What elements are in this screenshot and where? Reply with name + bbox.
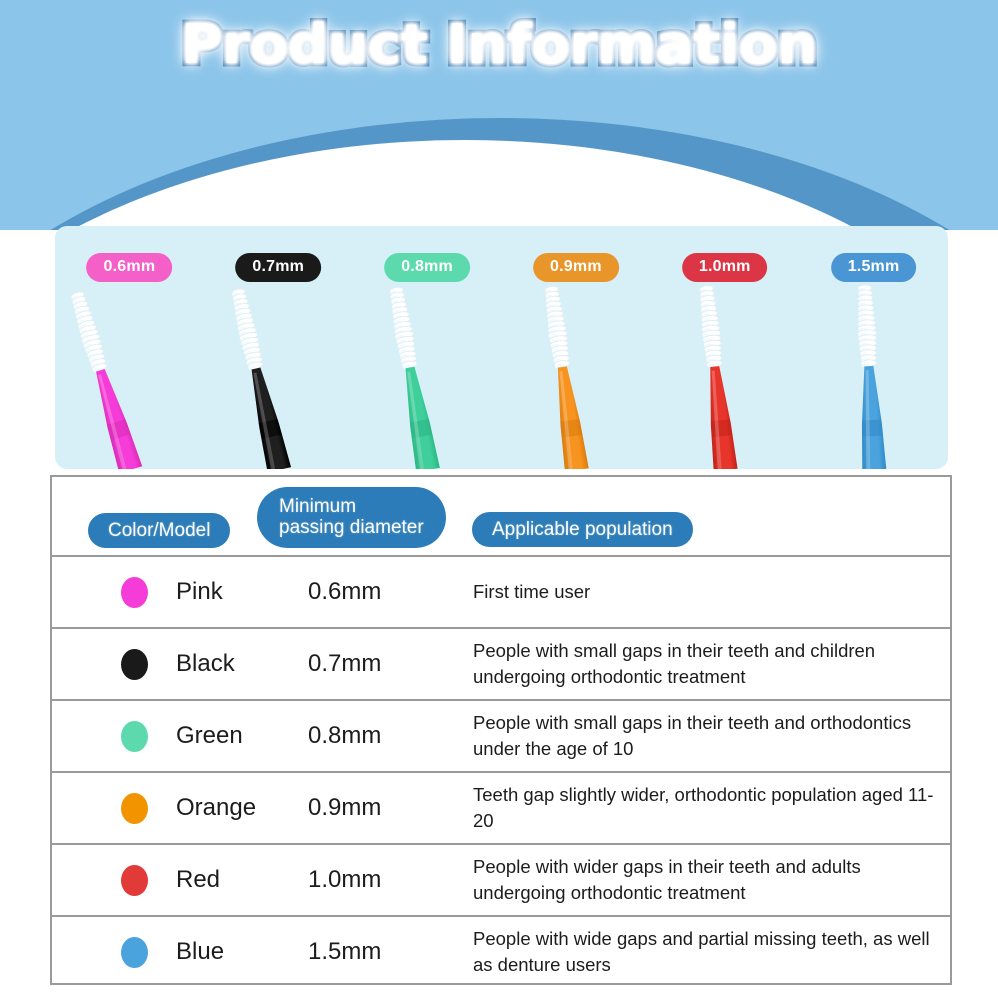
cell-color-name: Green <box>168 722 308 750</box>
table-header-row: Color/Model Minimumpassing diameter Appl… <box>52 477 950 555</box>
table-row: Green0.8mmPeople with small gaps in thei… <box>52 699 950 771</box>
specification-table: Color/Model Minimumpassing diameter Appl… <box>50 475 952 985</box>
brush-item: 1.0mm <box>650 226 799 469</box>
cell-color-name: Orange <box>168 794 308 822</box>
product-information-infographic: Product Information 0.6mm0.7mm0.8mm0.9mm… <box>0 0 998 998</box>
brush-item: 0.7mm <box>204 226 353 469</box>
color-swatch-cell <box>52 793 168 824</box>
cell-diameter: 0.8mm <box>308 722 473 750</box>
cell-color-name: Black <box>168 650 308 678</box>
cell-diameter: 0.6mm <box>308 578 473 606</box>
interdental-brush-icon <box>804 271 934 469</box>
table-row: Orange0.9mmTeeth gap slightly wider, ort… <box>52 771 950 843</box>
header-banner: Product Information <box>0 0 998 230</box>
brush-item: 0.6mm <box>55 226 204 469</box>
table-body: Pink0.6mmFirst time userBlack0.7mmPeople… <box>52 555 950 987</box>
table-row: Red1.0mmPeople with wider gaps in their … <box>52 843 950 915</box>
color-swatch-cell <box>52 577 168 608</box>
column-header-minimum-passing-diameter: Minimumpassing diameter <box>257 487 446 548</box>
brush-size-label: 1.0mm <box>682 253 768 282</box>
color-dot-icon <box>121 649 148 680</box>
table-row: Black0.7mmPeople with small gaps in thei… <box>52 627 950 699</box>
page-title: Product Information <box>170 14 827 76</box>
cell-color-name: Red <box>168 866 308 894</box>
color-dot-icon <box>121 865 148 896</box>
table-row: Pink0.6mmFirst time user <box>52 555 950 627</box>
brush-item: 0.9mm <box>502 226 651 469</box>
brush-item: 1.5mm <box>799 226 948 469</box>
cell-description: First time user <box>473 579 950 605</box>
cell-diameter: 0.9mm <box>308 794 473 822</box>
color-swatch-cell <box>52 721 168 752</box>
cell-diameter: 1.0mm <box>308 866 473 894</box>
color-dot-icon <box>121 937 148 968</box>
color-dot-icon <box>121 793 148 824</box>
cell-description: People with wider gaps in their teeth an… <box>473 854 950 907</box>
cell-description: Teeth gap slightly wider, orthodontic po… <box>473 782 950 835</box>
interdental-brush-icon <box>335 266 488 469</box>
cell-description: People with wide gaps and partial missin… <box>473 926 950 979</box>
brush-lineup-panel: 0.6mm0.7mm0.8mm0.9mm1.0mm1.5mm <box>55 226 948 469</box>
color-dot-icon <box>121 721 148 752</box>
column-header-color-model: Color/Model <box>88 513 230 548</box>
cell-color-name: Pink <box>168 578 308 606</box>
color-dot-icon <box>121 577 148 608</box>
cell-diameter: 0.7mm <box>308 650 473 678</box>
brush-size-label: 0.9mm <box>533 253 619 282</box>
cell-diameter: 1.5mm <box>308 938 473 966</box>
interdental-brush-icon <box>645 269 785 469</box>
brush-size-label: 1.5mm <box>831 253 917 282</box>
column-header-applicable-population: Applicable population <box>472 512 693 547</box>
interdental-brush-icon <box>55 265 190 469</box>
cell-color-name: Blue <box>168 938 308 966</box>
color-swatch-cell <box>52 937 168 968</box>
page-title-wrap: Product Information <box>0 14 998 76</box>
interdental-brush-icon <box>490 267 637 469</box>
cell-description: People with small gaps in their teeth an… <box>473 710 950 763</box>
brush-size-label: 0.6mm <box>87 253 173 282</box>
header-line-2: passing diameter <box>279 517 424 538</box>
table-row: Blue1.5mmPeople with wide gaps and parti… <box>52 915 950 987</box>
brush-item: 0.8mm <box>353 226 502 469</box>
color-swatch-cell <box>52 649 168 680</box>
color-swatch-cell <box>52 865 168 896</box>
header-line-1: Minimum <box>279 496 356 517</box>
brush-size-label: 0.8mm <box>384 253 470 282</box>
cell-description: People with small gaps in their teeth an… <box>473 638 950 691</box>
brush-size-label: 0.7mm <box>235 253 321 282</box>
